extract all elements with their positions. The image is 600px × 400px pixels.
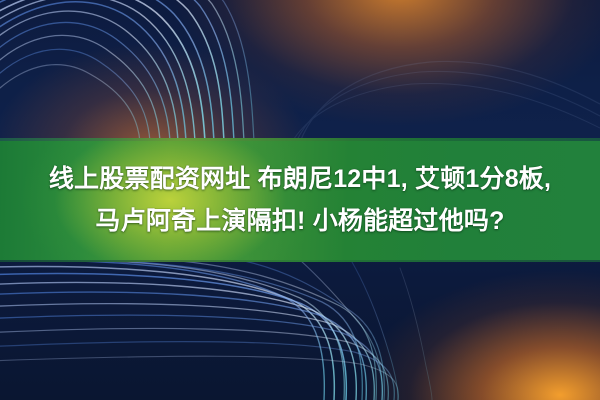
band-bottom-edge [0,260,600,262]
headline-text: 线上股票配资网址 布朗尼12中1, 艾顿1分8板, 马卢阿奇上演隔扣! 小杨能超… [0,158,600,242]
band-top-edge [0,138,600,141]
headline-line-1: 线上股票配资网址 布朗尼12中1, 艾顿1分8板, [0,158,600,200]
article-thumbnail-banner: 线上股票配资网址 布朗尼12中1, 艾顿1分8板, 马卢阿奇上演隔扣! 小杨能超… [0,0,600,400]
headline-line-2: 马卢阿奇上演隔扣! 小杨能超过他吗? [0,200,600,242]
